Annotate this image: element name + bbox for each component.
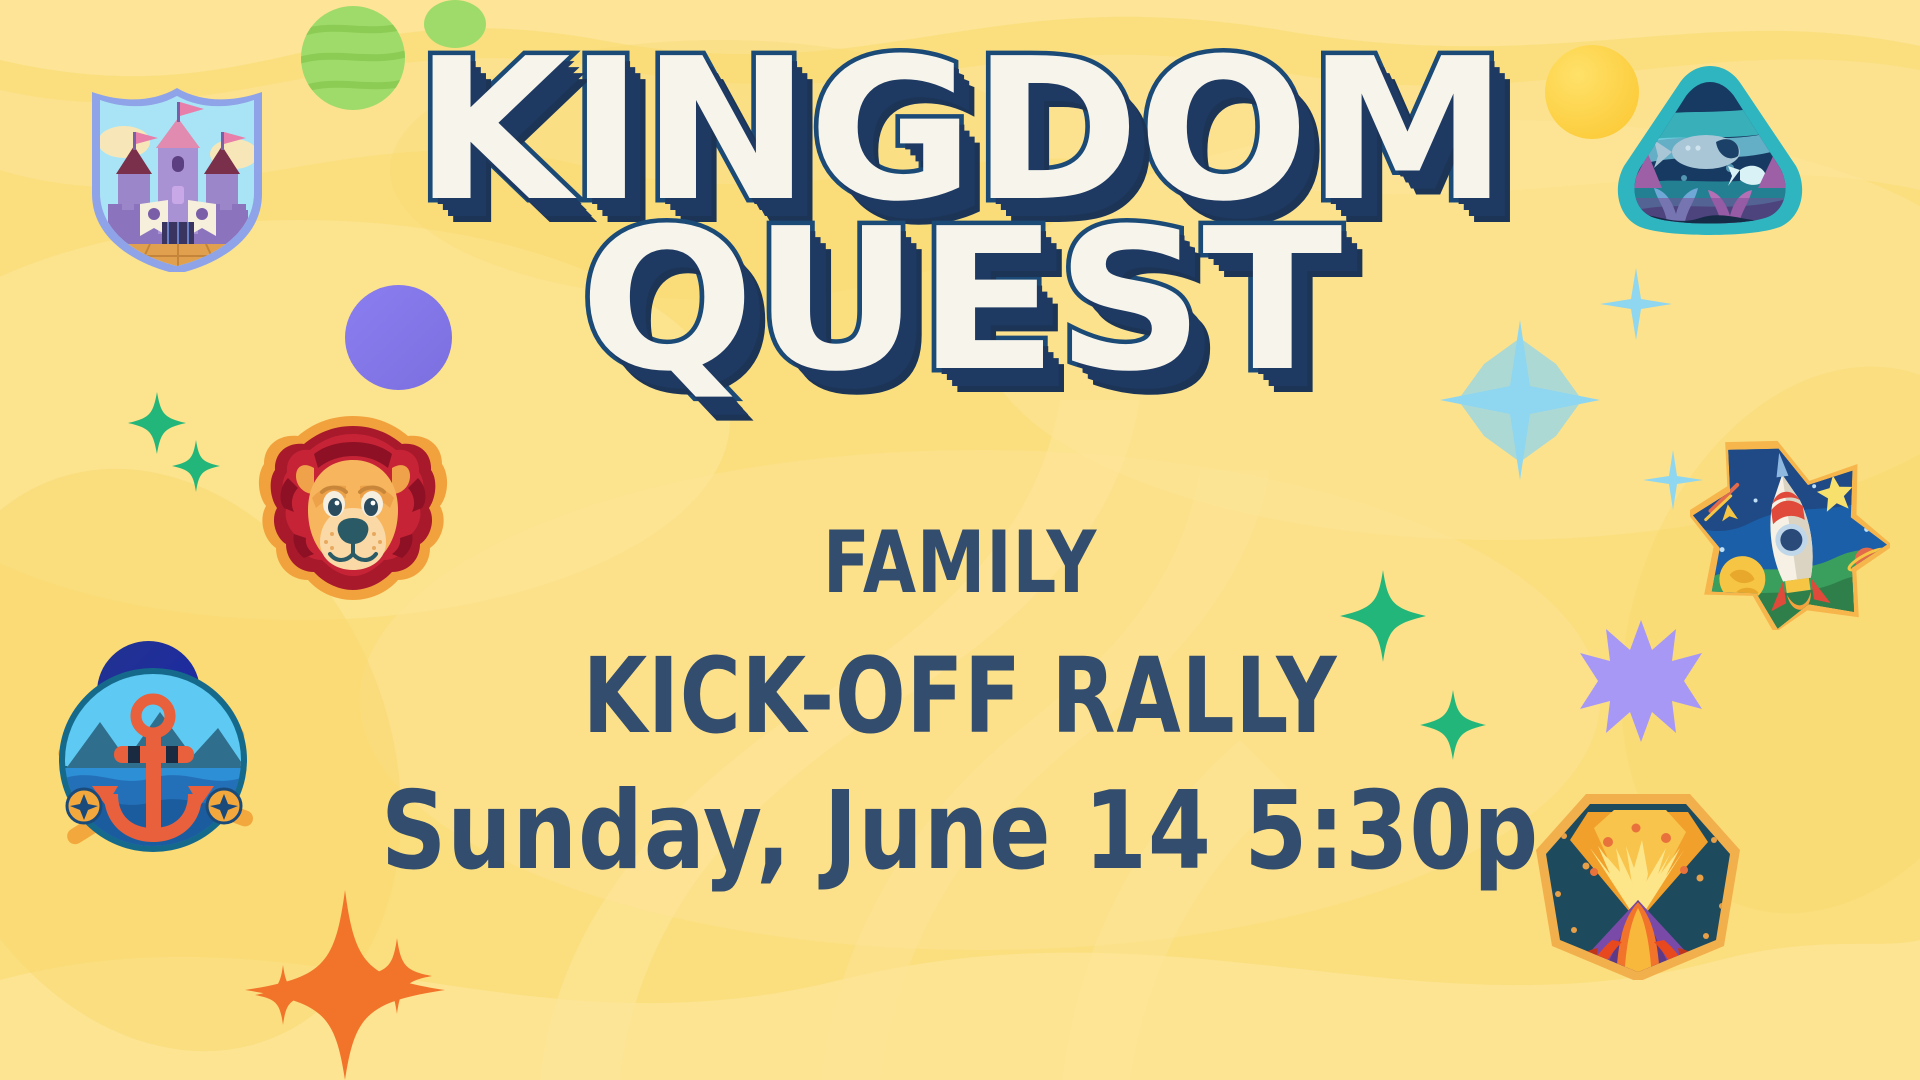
green-sparkle-medium	[1420, 690, 1486, 760]
poster-canvas: KINGDOM QUEST FAMILY KICK-OFF RALLY Sund…	[0, 0, 1920, 1080]
green-sparkle-large	[1340, 570, 1426, 662]
blue-sparkle-star	[1440, 320, 1600, 480]
green-planet-blob	[297, 3, 409, 113]
volcano-hex-badge	[1528, 790, 1748, 980]
ocean-triangle-badge	[1610, 58, 1810, 248]
orange-sparkle-tiny	[255, 965, 311, 1025]
anchor-circle-badge	[48, 660, 258, 860]
lion-head-badge	[258, 412, 448, 602]
rocket-star-badge	[1690, 430, 1890, 630]
castle-shield-badge	[82, 82, 272, 272]
small-green-blob	[424, 0, 486, 48]
lavender-starburst	[1580, 620, 1702, 742]
green-sparkle-tiny	[172, 440, 220, 492]
purple-circle-blob	[345, 285, 452, 390]
blue-sparkle-small	[1600, 268, 1672, 340]
orange-sparkle-small	[362, 938, 432, 1014]
